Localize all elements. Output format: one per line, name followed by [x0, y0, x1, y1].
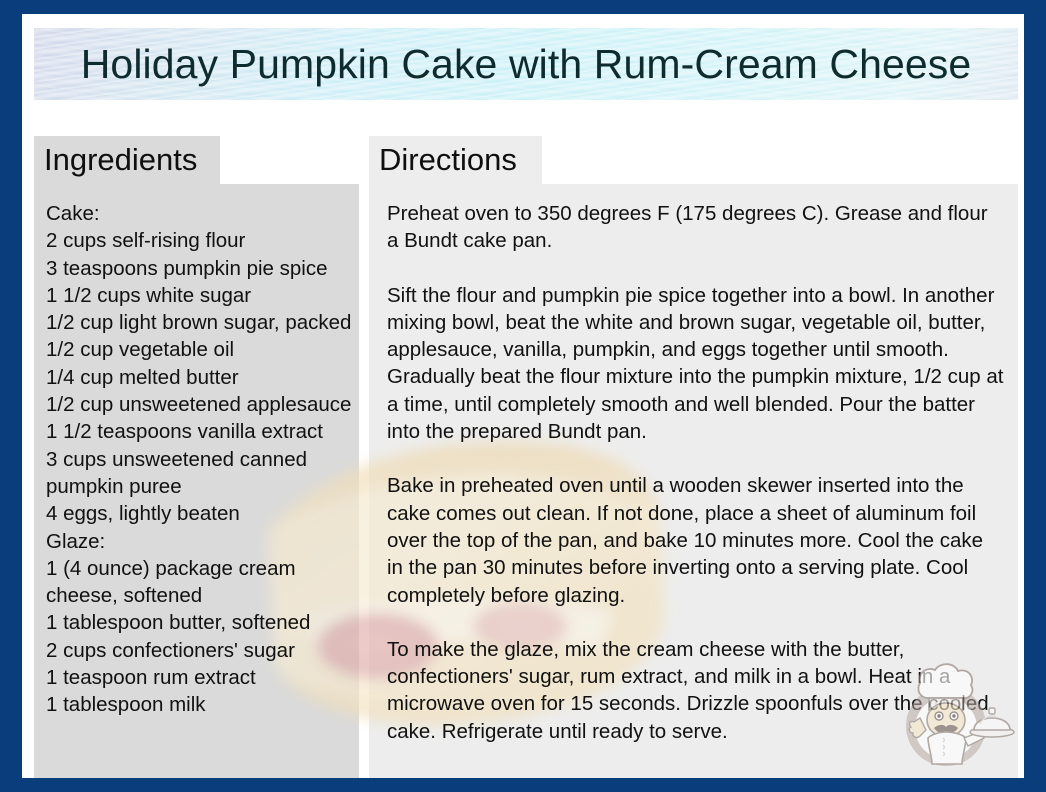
list-item: 1 teaspoon rum extract — [46, 664, 353, 691]
ingredients-list: Cake: 2 cups self-rising flour 3 teaspoo… — [34, 200, 359, 719]
list-item: 2 cups confectioners' sugar — [46, 637, 353, 664]
ingredients-heading: Ingredients — [44, 142, 197, 178]
recipe-card-inner: Holiday Pumpkin Cake with Rum-Cream Chee… — [22, 14, 1024, 778]
tab-ingredients[interactable]: Ingredients — [34, 136, 220, 184]
list-item: 1/2 cup light brown sugar, packed — [46, 309, 353, 336]
list-item: Cake: — [46, 200, 353, 227]
list-item: 1 1/2 cups white sugar — [46, 282, 353, 309]
list-item: 1 1/2 teaspoons vanilla extract — [46, 418, 353, 445]
directions-steps: Preheat oven to 350 degrees F (175 degre… — [369, 200, 1018, 745]
list-item: 3 teaspoons pumpkin pie spice — [46, 255, 353, 282]
list-item: 4 eggs, lightly beaten — [46, 500, 353, 527]
list-item: 1/2 cup unsweetened applesauce — [46, 391, 353, 418]
direction-step: To make the glaze, mix the cream cheese … — [387, 636, 1004, 745]
page-title: Holiday Pumpkin Cake with Rum-Cream Chee… — [81, 44, 972, 85]
recipe-title-banner: Holiday Pumpkin Cake with Rum-Cream Chee… — [34, 28, 1018, 100]
direction-step: Sift the flour and pumpkin pie spice tog… — [387, 282, 1004, 446]
list-item: 3 cups unsweetened canned pumpkin puree — [46, 446, 353, 501]
recipe-card-frame: Holiday Pumpkin Cake with Rum-Cream Chee… — [0, 0, 1046, 792]
direction-step: Preheat oven to 350 degrees F (175 degre… — [387, 200, 1004, 255]
list-item: 2 cups self-rising flour — [46, 227, 353, 254]
list-item: 1 tablespoon milk — [46, 691, 353, 718]
direction-step: Bake in preheated oven until a wooden sk… — [387, 472, 1004, 608]
list-item: Glaze: — [46, 528, 353, 555]
directions-heading: Directions — [379, 142, 517, 178]
list-item: 1/4 cup melted butter — [46, 364, 353, 391]
list-item: 1 (4 ounce) package cream cheese, soften… — [46, 555, 353, 610]
list-item: 1/2 cup vegetable oil — [46, 336, 353, 363]
list-item: 1 tablespoon butter, softened — [46, 609, 353, 636]
tab-directions[interactable]: Directions — [369, 136, 542, 184]
